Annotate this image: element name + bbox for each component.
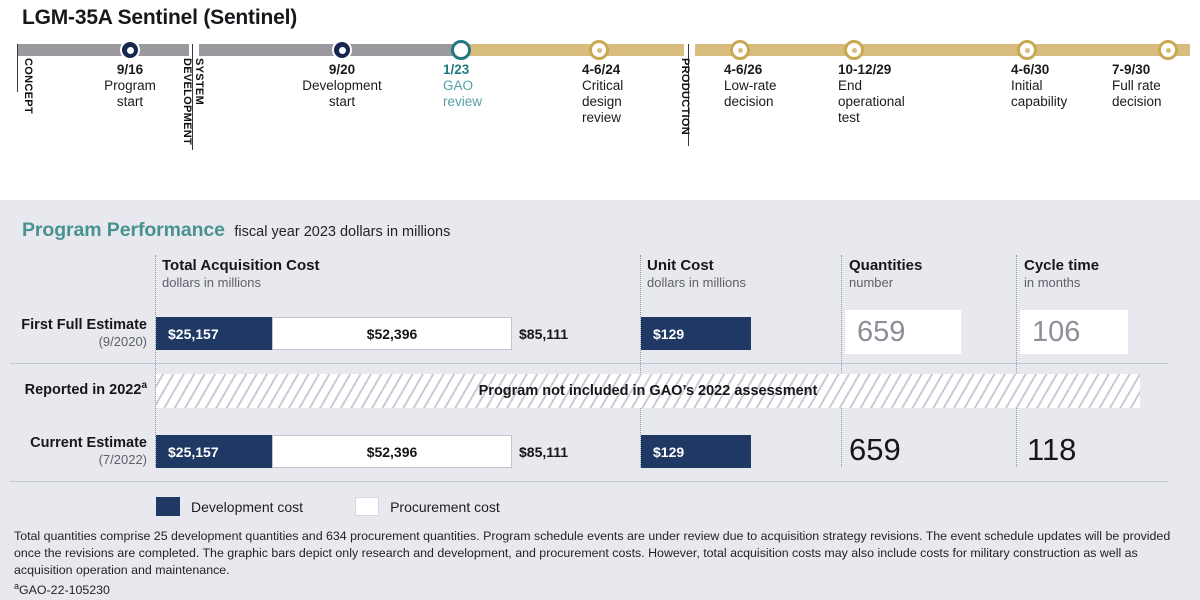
footnote-block: Total quantities comprise 25 development… (14, 528, 1186, 600)
milestone-date: 9/16 (80, 62, 180, 78)
milestone-desc: GAOreview (443, 78, 533, 110)
bar-unit-cost-row3: $129 (641, 435, 751, 468)
bar-procurement-cost-row1: $52,396 (272, 317, 512, 350)
column-divider-quantities (841, 255, 842, 467)
phase-rule-concept (17, 44, 18, 92)
milestone-label-critical-design-review: 4-6/24 Criticaldesignreview (582, 62, 672, 126)
row-label-date: (9/2020) (21, 334, 147, 349)
column-header-total-acquisition-cost: Total Acquisition Cost dollars in millio… (162, 257, 320, 290)
column-title: Unit Cost (647, 257, 746, 274)
row-label-current-estimate: Current Estimate (7/2022) (30, 435, 147, 467)
legend-label: Procurement cost (390, 499, 500, 515)
page-title: LGM-35A Sentinel (Sentinel) (22, 6, 297, 30)
program-performance-panel: Program Performance fiscal year 2023 dol… (0, 197, 1200, 600)
row-label-text: Reported in 2022 (25, 382, 142, 398)
footnote-text: Total quantities comprise 25 development… (14, 529, 1170, 577)
legend-swatch-procurement (355, 497, 379, 516)
milestone-date: 10-12/29 (838, 62, 958, 78)
milestone-node-low-rate-decision[interactable] (730, 40, 750, 60)
milestone-node-program-start[interactable] (120, 40, 140, 60)
phase-label-system-development: SYSTEMDEVELOPMENT (180, 58, 204, 150)
milestone-node-initial-capability[interactable] (1017, 40, 1037, 60)
column-header-cycle-time: Cycle time in months (1024, 257, 1099, 290)
milestone-node-full-rate-decision[interactable] (1158, 40, 1178, 60)
timeline-bar-production (695, 44, 1190, 56)
milestone-desc: Criticaldesignreview (582, 78, 672, 126)
timeline-bar-system-development-gold (461, 44, 684, 56)
milestone-label-low-rate-decision: 4-6/26 Low-ratedecision (724, 62, 824, 110)
milestone-date: 7-9/30 (1112, 62, 1200, 78)
total-acquisition-cost-row3: $85,111 (519, 435, 568, 468)
milestone-desc: Developmentstart (277, 78, 407, 110)
performance-subtitle: fiscal year 2023 dollars in millions (234, 224, 450, 240)
row-label-text: First Full Estimate (21, 317, 147, 333)
bar-development-cost-row1: $25,157 (156, 317, 273, 350)
milestone-label-program-start: 9/16 Programstart (80, 62, 180, 110)
quantities-box-row1: 659 (845, 310, 961, 354)
milestone-desc: Low-ratedecision (724, 78, 824, 110)
column-divider-cycle-time (1016, 255, 1017, 467)
column-subtitle: dollars in millions (647, 275, 746, 290)
schedule-timeline: CONCEPT SYSTEMDEVELOPMENT PRODUCTION 9/1… (0, 44, 1200, 194)
milestone-desc: Endoperationaltest (838, 78, 958, 126)
legend-label: Development cost (191, 499, 303, 515)
row-divider-1 (10, 363, 1168, 364)
column-title: Total Acquisition Cost (162, 257, 320, 274)
legend-item-development-cost: Development cost (156, 497, 303, 516)
row-label-text: Current Estimate (30, 435, 147, 451)
cycle-time-value-row3: 118 (1027, 428, 1076, 472)
row-divider-2 (10, 481, 1168, 482)
milestone-desc: Programstart (80, 78, 180, 110)
column-header-unit-cost: Unit Cost dollars in millions (647, 257, 746, 290)
column-header-quantities: Quantities number (849, 257, 922, 290)
milestone-date: 4-6/30 (1011, 62, 1111, 78)
footnote-source-text: GAO-22-105230 (19, 583, 110, 597)
timeline-bar-concept (17, 44, 189, 56)
milestone-label-full-rate-decision: 7-9/30 Full ratedecision (1112, 62, 1200, 110)
timeline-section: LGM-35A Sentinel (Sentinel) CONCEPT SYST… (0, 0, 1200, 197)
footnote-marker: a (141, 380, 147, 391)
milestone-desc: Full ratedecision (1112, 78, 1200, 110)
footnote-source: aGAO-22-105230 (14, 580, 1186, 599)
column-title: Quantities (849, 257, 922, 274)
row-label-date: (7/2022) (30, 452, 147, 467)
column-subtitle: in months (1024, 275, 1099, 290)
performance-header: Program Performance fiscal year 2023 dol… (22, 219, 450, 242)
milestone-date: 1/23 (443, 62, 533, 78)
milestone-date: 9/20 (277, 62, 407, 78)
bar-development-cost-row3: $25,157 (156, 435, 273, 468)
milestone-desc: Initialcapability (1011, 78, 1111, 110)
milestone-node-development-start[interactable] (332, 40, 352, 60)
legend-item-procurement-cost: Procurement cost (355, 497, 500, 516)
milestone-date: 4-6/24 (582, 62, 672, 78)
milestone-label-end-operational-test: 10-12/29 Endoperationaltest (838, 62, 958, 126)
quantities-value-row3: 659 (849, 428, 901, 472)
milestone-node-critical-design-review[interactable] (589, 40, 609, 60)
cycle-time-box-row1: 106 (1020, 310, 1128, 354)
legend-swatch-development (156, 497, 180, 516)
column-subtitle: number (849, 275, 922, 290)
not-included-band: Program not included in GAO’s 2022 asses… (156, 374, 1140, 408)
milestone-node-end-operational-test[interactable] (844, 40, 864, 60)
milestone-label-gao-review: 1/23 GAOreview (443, 62, 533, 110)
quantities-value: 659 (857, 316, 905, 349)
total-acquisition-cost-row1: $85,111 (519, 317, 568, 350)
chart-legend: Development cost Procurement cost (156, 497, 552, 516)
not-included-text: Program not included in GAO’s 2022 asses… (476, 383, 821, 399)
cycle-time-value: 106 (1032, 316, 1080, 349)
timeline-bar-system-development (199, 44, 461, 56)
phase-label-production: PRODUCTION (678, 58, 690, 146)
row-label-first-full-estimate: First Full Estimate (9/2020) (21, 317, 147, 349)
milestone-label-development-start: 9/20 Developmentstart (277, 62, 407, 110)
bar-procurement-cost-row3: $52,396 (272, 435, 512, 468)
row-label-reported-2022: Reported in 2022a (25, 380, 147, 398)
milestone-label-initial-capability: 4-6/30 Initialcapability (1011, 62, 1111, 110)
bar-unit-cost-row1: $129 (641, 317, 751, 350)
milestone-date: 4-6/26 (724, 62, 824, 78)
performance-title: Program Performance (22, 219, 225, 241)
column-title: Cycle time (1024, 257, 1099, 274)
phase-label-concept: CONCEPT (21, 58, 33, 118)
column-subtitle: dollars in millions (162, 275, 320, 290)
milestone-node-gao-review[interactable] (451, 40, 471, 60)
